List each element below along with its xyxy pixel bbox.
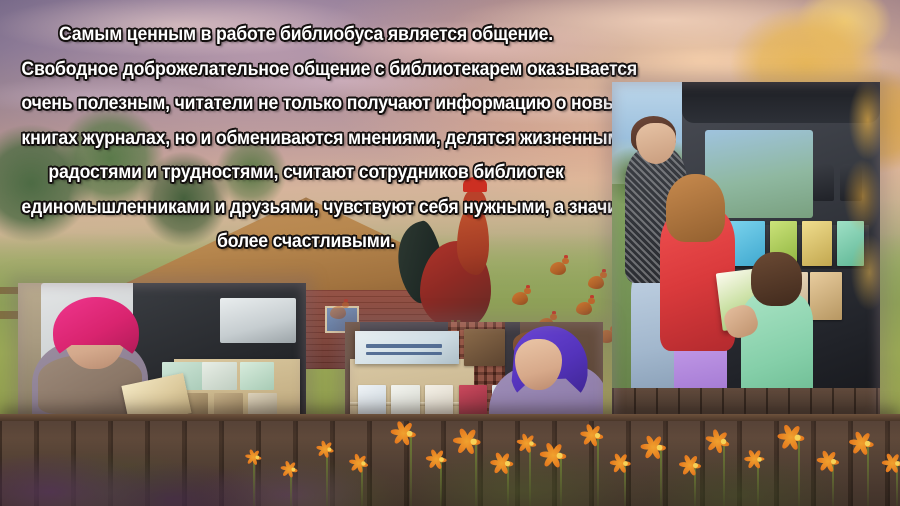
caption-line-6: единомышленниками и друзьями, чувствуют … (21, 191, 590, 226)
photo3-headrest (813, 164, 835, 201)
caption-line-3: очень полезным, читатели не только получ… (21, 87, 590, 122)
lily-flower-icon (459, 427, 487, 455)
lily-flower-icon (249, 449, 265, 465)
lily-flower-icon (431, 449, 452, 470)
lily-flower-icon (320, 440, 338, 458)
caption-line-5: радостями и трудностями, считают сотрудн… (21, 156, 590, 191)
photo3-girl-hair (666, 174, 725, 242)
hen-icon (576, 302, 592, 315)
photo3-boy-head (751, 252, 802, 306)
photo1-book (240, 362, 275, 390)
caption-line-1: Самым ценным в работе библиобуса являетс… (21, 18, 590, 53)
lily-flower-icon (521, 433, 541, 453)
lily-flower-icon (353, 453, 372, 472)
lily-flower-icon (646, 434, 671, 459)
photo2-featured-book (355, 331, 458, 364)
caption-block: Самым ценным в работе библиобуса являетс… (0, 18, 612, 260)
lily-flower-icon (822, 450, 844, 472)
photo3-magazine (802, 221, 831, 265)
lily-flower-icon (784, 424, 811, 451)
lily-flower-icon (396, 420, 421, 445)
lily-flower-icon (684, 454, 706, 476)
hen-icon (512, 292, 528, 305)
caption-line-7: более счастливыми. (21, 225, 590, 260)
lily-flower-icon (615, 453, 636, 474)
photo-children-content (612, 82, 880, 422)
lily-flower-icon (855, 431, 880, 456)
lily-flower-icon (887, 453, 900, 474)
photo1-book (202, 362, 237, 390)
photo-children-at-bookmobile (612, 82, 880, 422)
photo3-magazine (810, 272, 842, 320)
lily-flower-icon (749, 449, 769, 469)
lily-flower-icon (585, 423, 608, 446)
library-bookmobile-poster: Самым ценным в работе библиобуса являетс… (0, 0, 900, 506)
foreground-purple-foliage (0, 428, 360, 506)
caption-line-2: Свободное доброжелательное общение с биб… (21, 53, 590, 88)
hen-icon (330, 306, 346, 319)
hen-icon (588, 276, 604, 289)
lily-flower-icon (546, 442, 572, 468)
hen-icon (550, 262, 566, 275)
photo2-book (464, 329, 505, 366)
photo1-van-window (220, 298, 296, 343)
lily-flower-icon (495, 451, 518, 474)
photo3-autumn-leaves (842, 82, 880, 354)
lily-flower-icon (711, 429, 735, 453)
lily-flower-icon (284, 460, 301, 477)
caption-line-4: книгах журналах, но и обмениваются мнени… (21, 122, 590, 157)
